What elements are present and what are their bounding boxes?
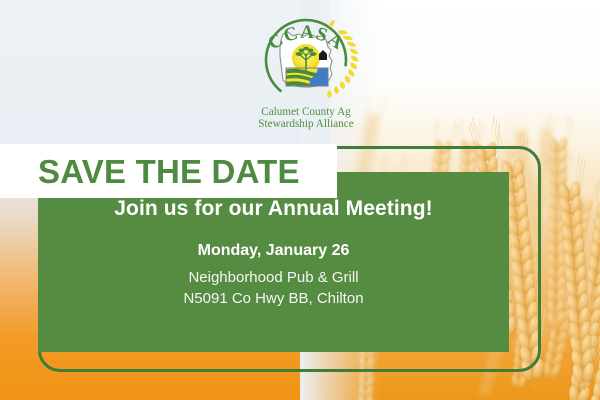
ccasa-logo: CCASA Calumet County Ag Stewardship Alli… (236, 14, 376, 132)
event-headline: Join us for our Annual Meeting! (114, 198, 432, 219)
logo-name-line-2: Stewardship Alliance (258, 118, 353, 130)
event-details-panel: Join us for our Annual Meeting! Monday, … (38, 172, 509, 352)
flyer-canvas: CCASA Calumet County Ag Stewardship Alli… (0, 0, 600, 400)
save-the-date-banner: SAVE THE DATE (0, 144, 337, 198)
save-the-date-title: SAVE THE DATE (38, 155, 300, 188)
event-venue: Neighborhood Pub & Grill (188, 268, 358, 287)
logo-name-line-1: Calumet County Ag (261, 106, 351, 118)
logo-field (284, 66, 332, 90)
event-date: Monday, January 26 (198, 243, 350, 259)
event-address: N5091 Co Hwy BB, Chilton (183, 289, 363, 308)
